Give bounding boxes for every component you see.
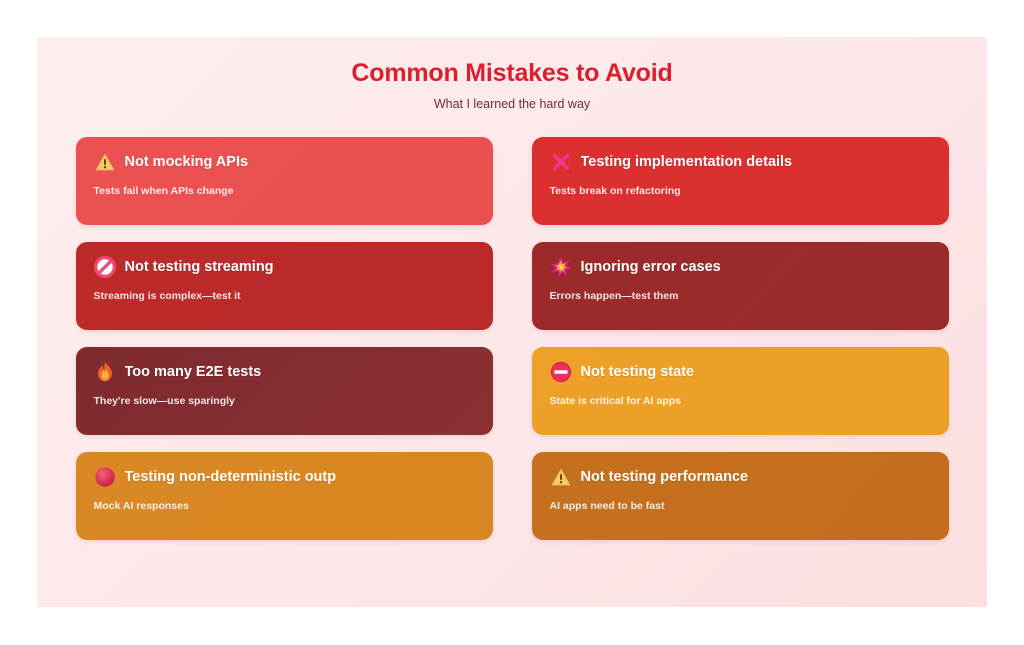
card-header: Testing non-deterministic outp bbox=[94, 465, 475, 489]
cross-mark-icon bbox=[550, 151, 572, 173]
page-title: Common Mistakes to Avoid bbox=[37, 59, 987, 88]
mistake-card[interactable]: Not testing performance AI apps need to … bbox=[532, 452, 949, 540]
mistake-card[interactable]: Too many E2E tests They're slow—use spar… bbox=[76, 347, 493, 435]
card-title: Testing non-deterministic outp bbox=[125, 469, 337, 485]
card-description: They're slow—use sparingly bbox=[94, 395, 475, 407]
card-description: Errors happen—test them bbox=[550, 290, 931, 302]
collision-icon bbox=[550, 256, 572, 278]
mistake-card[interactable]: Not testing streaming Streaming is compl… bbox=[76, 242, 493, 330]
card-title: Not testing performance bbox=[581, 469, 749, 485]
mistake-card[interactable]: Not testing state State is critical for … bbox=[532, 347, 949, 435]
card-header: Not testing streaming bbox=[94, 255, 475, 279]
card-description: Tests fail when APIs change bbox=[94, 185, 475, 197]
prohibited-icon bbox=[94, 256, 116, 278]
mistake-card[interactable]: Not mocking APIs Tests fail when APIs ch… bbox=[76, 137, 493, 225]
card-title: Not testing streaming bbox=[125, 259, 274, 275]
card-title: Not mocking APIs bbox=[125, 154, 249, 170]
card-title: Not testing state bbox=[581, 364, 695, 380]
card-description: Streaming is complex—test it bbox=[94, 290, 475, 302]
slide-header: Common Mistakes to Avoid What I learned … bbox=[37, 59, 987, 111]
mistakes-card-grid: Not mocking APIs Tests fail when APIs ch… bbox=[37, 137, 987, 540]
no-entry-icon bbox=[550, 361, 572, 383]
red-circle-icon bbox=[94, 466, 116, 488]
page-subtitle: What I learned the hard way bbox=[37, 97, 987, 111]
card-title: Too many E2E tests bbox=[125, 364, 262, 380]
card-header: Ignoring error cases bbox=[550, 255, 931, 279]
warning-triangle-icon bbox=[94, 151, 116, 173]
mistake-card[interactable]: Testing implementation details Tests bre… bbox=[532, 137, 949, 225]
card-header: Not testing state bbox=[550, 360, 931, 384]
warning-triangle-icon bbox=[550, 466, 572, 488]
card-header: Not mocking APIs bbox=[94, 150, 475, 174]
card-title: Ignoring error cases bbox=[581, 259, 721, 275]
card-header: Too many E2E tests bbox=[94, 360, 475, 384]
card-description: State is critical for AI apps bbox=[550, 395, 931, 407]
card-header: Testing implementation details bbox=[550, 150, 931, 174]
card-description: Tests break on refactoring bbox=[550, 185, 931, 197]
slide-panel: Common Mistakes to Avoid What I learned … bbox=[37, 37, 987, 607]
card-title: Testing implementation details bbox=[581, 154, 793, 170]
card-description: AI apps need to be fast bbox=[550, 500, 931, 512]
card-description: Mock AI responses bbox=[94, 500, 475, 512]
fire-icon bbox=[94, 361, 116, 383]
card-header: Not testing performance bbox=[550, 465, 931, 489]
mistake-card[interactable]: Ignoring error cases Errors happen—test … bbox=[532, 242, 949, 330]
mistake-card[interactable]: Testing non-deterministic outp Mock AI r… bbox=[76, 452, 493, 540]
